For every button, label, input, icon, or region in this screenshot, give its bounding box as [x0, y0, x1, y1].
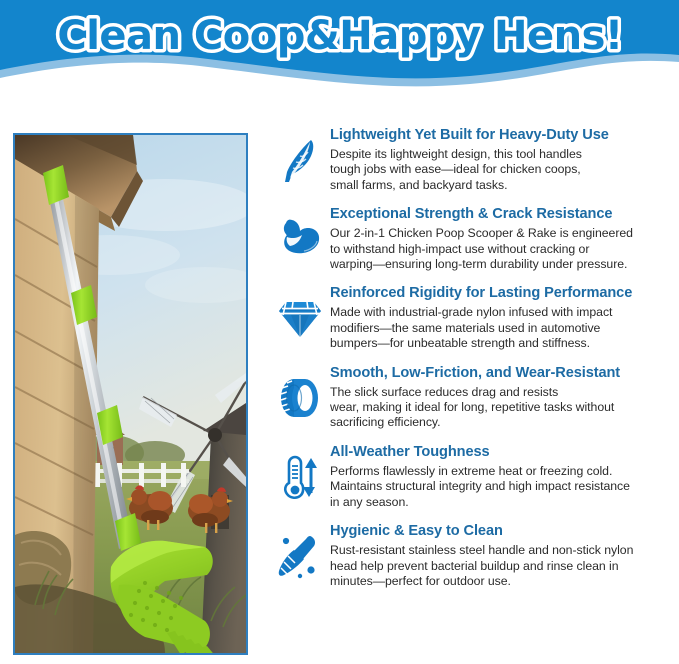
flexed-bicep-icon — [272, 205, 328, 267]
page-title-fill: Clean Coop&Happy Hens! — [57, 13, 622, 59]
feature-body: Despite its lightweight design, this too… — [330, 147, 672, 193]
feature-title: Hygienic & Easy to Clean — [330, 522, 672, 541]
sparkle-dot — [307, 566, 314, 573]
tire-icon — [272, 364, 328, 426]
diamond-icon — [272, 284, 328, 346]
feature-list: Lightweight Yet Built for Heavy-Duty Use… — [272, 126, 672, 601]
sparkle-dot — [283, 538, 289, 544]
feature-title: Lightweight Yet Built for Heavy-Duty Use — [330, 126, 672, 145]
feature-item: Exceptional Strength & Crack Resistance … — [272, 205, 672, 272]
product-photo — [13, 133, 248, 655]
feature-body: The slick surface reduces drag and resis… — [330, 385, 672, 431]
feature-item: Reinforced Rigidity for Lasting Performa… — [272, 284, 672, 351]
feature-item: Hygienic & Easy to Clean Rust-resistant … — [272, 522, 672, 589]
thermometer-icon — [272, 443, 328, 505]
feather-icon — [272, 126, 328, 188]
feature-item: Lightweight Yet Built for Heavy-Duty Use… — [272, 126, 672, 193]
feature-body: Our 2-in-1 Chicken Poop Scooper & Rake i… — [330, 226, 672, 272]
feature-title: Smooth, Low-Friction, and Wear-Resistant — [330, 364, 672, 383]
product-photo-illustration — [15, 135, 246, 653]
feature-title: Exceptional Strength & Crack Resistance — [330, 205, 672, 224]
feature-title: All-Weather Toughness — [330, 443, 672, 462]
feature-item: Smooth, Low-Friction, and Wear-Resistant… — [272, 364, 672, 431]
header-banner: Clean Coop&Happy Hens! Clean Coop&Happy … — [0, 0, 679, 102]
feature-body: Rust-resistant stainless steel handle an… — [330, 543, 672, 589]
brush-icon — [272, 522, 328, 584]
feature-item: All-Weather Toughness Performs flawlessl… — [272, 443, 672, 510]
feature-body: Made with industrial-grade nylon infused… — [330, 305, 672, 351]
feature-body: Performs flawlessly in extreme heat or f… — [330, 464, 672, 510]
feature-title: Reinforced Rigidity for Lasting Performa… — [330, 284, 672, 303]
sparkle-dot — [298, 574, 302, 578]
page-title: Clean Coop&Happy Hens! Clean Coop&Happy … — [0, 0, 679, 74]
